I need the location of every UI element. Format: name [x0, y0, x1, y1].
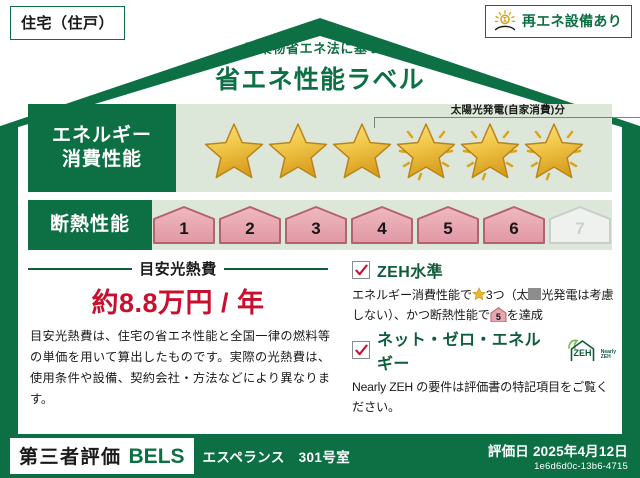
- zeh-desc-part1: エネルギー消費性能で: [352, 288, 472, 302]
- estimated-cost-heading: 目安光熱費: [28, 258, 328, 279]
- inline-badge-value: 5: [490, 310, 507, 325]
- building-type-label: 住宅（住戸）: [21, 15, 114, 32]
- insulation-performance-row: 断熱性能 1234567: [28, 200, 612, 250]
- zeh-desc-part4: を達成: [507, 308, 543, 322]
- checkbox-checked-icon-2: [352, 341, 370, 359]
- insulation-level-on: 1: [152, 205, 216, 245]
- energy-rating-area: 太陽光発電(自家消費)分: [176, 104, 612, 192]
- sun-icon: [493, 10, 517, 32]
- zeh-desc-part2: 3つ（太: [486, 288, 529, 302]
- redaction-block: [528, 288, 541, 300]
- net-zero-energy-block: ネット・ゼロ・エネルギー ZEH Nearly ZEH Nearly ZEH の…: [352, 326, 616, 418]
- insulation-level-on: 5: [416, 205, 480, 245]
- net-zero-description: Nearly ZEH の要件は評価書の特記項目をご覧ください。: [352, 378, 616, 418]
- net-zero-title: ネット・ゼロ・エネルギー: [377, 326, 555, 374]
- insulation-performance-label: 断熱性能: [28, 200, 152, 250]
- insulation-level-value: 6: [482, 219, 546, 239]
- star-solar: [459, 121, 521, 181]
- cost-rule-right: [224, 268, 328, 270]
- evaluation-info: 評価日 2025年4月12日 1e6d6d0c-13b6-4715: [488, 440, 628, 472]
- insulation-level-on: 3: [284, 205, 348, 245]
- renewable-badge-label: 再エネ設備あり: [522, 11, 622, 31]
- insulation-rating-area: 1234567: [152, 200, 612, 250]
- star-filled: [267, 121, 329, 181]
- title-heading: 省エネ性能ラベル: [0, 60, 640, 96]
- zeh-logo-sub2: ZEH: [601, 354, 611, 360]
- inline-insulation-badge: 5: [490, 307, 507, 322]
- energy-label-line1: エネルギー: [52, 124, 152, 148]
- insulation-level-value: 7: [548, 219, 612, 239]
- zeh-standard-title: ZEH水準: [377, 258, 443, 282]
- title-subtitle: 建築物省エネ法に基づく: [0, 38, 640, 57]
- energy-label-line2: 消費性能: [62, 148, 142, 172]
- insulation-level-value: 4: [350, 219, 414, 239]
- zeh-standard-header: ZEH水準: [352, 258, 616, 282]
- net-zero-header: ネット・ゼロ・エネルギー ZEH Nearly ZEH: [352, 326, 616, 374]
- star-filled: [331, 121, 393, 181]
- energy-label-root: 住宅（住戸） 再エネ設備あり 建築物省エネ法に基づく: [0, 0, 640, 478]
- insulation-level-on: 6: [482, 205, 546, 245]
- zeh-standard-block: ZEH水準 エネルギー消費性能で3つ（太光発電は考慮しない）、かつ断熱性能で5を…: [352, 258, 616, 326]
- building-type-tag: 住宅（住戸）: [10, 6, 125, 40]
- insulation-level-on: 4: [350, 205, 414, 245]
- energy-performance-row: エネルギー 消費性能 太陽光発電(自家消費)分: [28, 104, 612, 192]
- bels-badge: 第三者評価 BELS: [10, 438, 194, 474]
- inline-star-icon: [472, 287, 486, 301]
- evaluation-id: 1e6d6d0c-13b6-4715: [488, 461, 628, 472]
- insulation-level-on: 2: [218, 205, 282, 245]
- renewable-equipment-badge: 再エネ設備あり: [485, 5, 632, 38]
- insulation-level-value: 2: [218, 219, 282, 239]
- zeh-standard-description: エネルギー消費性能で3つ（太光発電は考慮しない）、かつ断熱性能で5を達成: [352, 286, 616, 326]
- insulation-label-text: 断熱性能: [50, 213, 130, 237]
- checkbox-checked-icon: [352, 261, 370, 279]
- label-title: 建築物省エネ法に基づく 省エネ性能ラベル: [0, 38, 640, 96]
- star-rating: [203, 121, 585, 181]
- building-name: エスペランス 301号室: [203, 446, 351, 466]
- insulation-level-value: 3: [284, 219, 348, 239]
- cost-rule-left: [28, 268, 132, 270]
- zeh-logo-subtext: Nearly ZEH: [601, 350, 616, 363]
- star-filled: [203, 121, 265, 181]
- insulation-level-off: 7: [548, 205, 612, 245]
- insulation-level-value: 1: [152, 219, 216, 239]
- star-solar: [395, 121, 457, 181]
- bels-badge-en: BELS: [129, 445, 185, 469]
- footer-bar: 第三者評価 BELS エスペランス 301号室 評価日 2025年4月12日 1…: [0, 434, 640, 478]
- bels-badge-ja: 第三者評価: [19, 442, 122, 469]
- solar-annotation-label: 太陽光発電(自家消費)分: [372, 102, 640, 117]
- energy-performance-label: エネルギー 消費性能: [28, 104, 176, 192]
- insulation-level-value: 5: [416, 219, 480, 239]
- star-solar: [523, 121, 585, 181]
- estimated-cost-note: 目安光熱費は、住宅の省エネ性能と全国一律の燃料等の単価を用いて算出したものです。…: [30, 326, 330, 410]
- zeh-house-logo: ZEH Nearly ZEH: [565, 338, 616, 363]
- cost-heading-text: 目安光熱費: [139, 258, 217, 279]
- insulation-level-scale: 1234567: [152, 205, 612, 245]
- estimated-cost-amount: 約8.8万円 / 年: [28, 281, 328, 320]
- evaluation-date: 評価日 2025年4月12日: [488, 440, 628, 460]
- svg-text:ZEH: ZEH: [573, 348, 591, 358]
